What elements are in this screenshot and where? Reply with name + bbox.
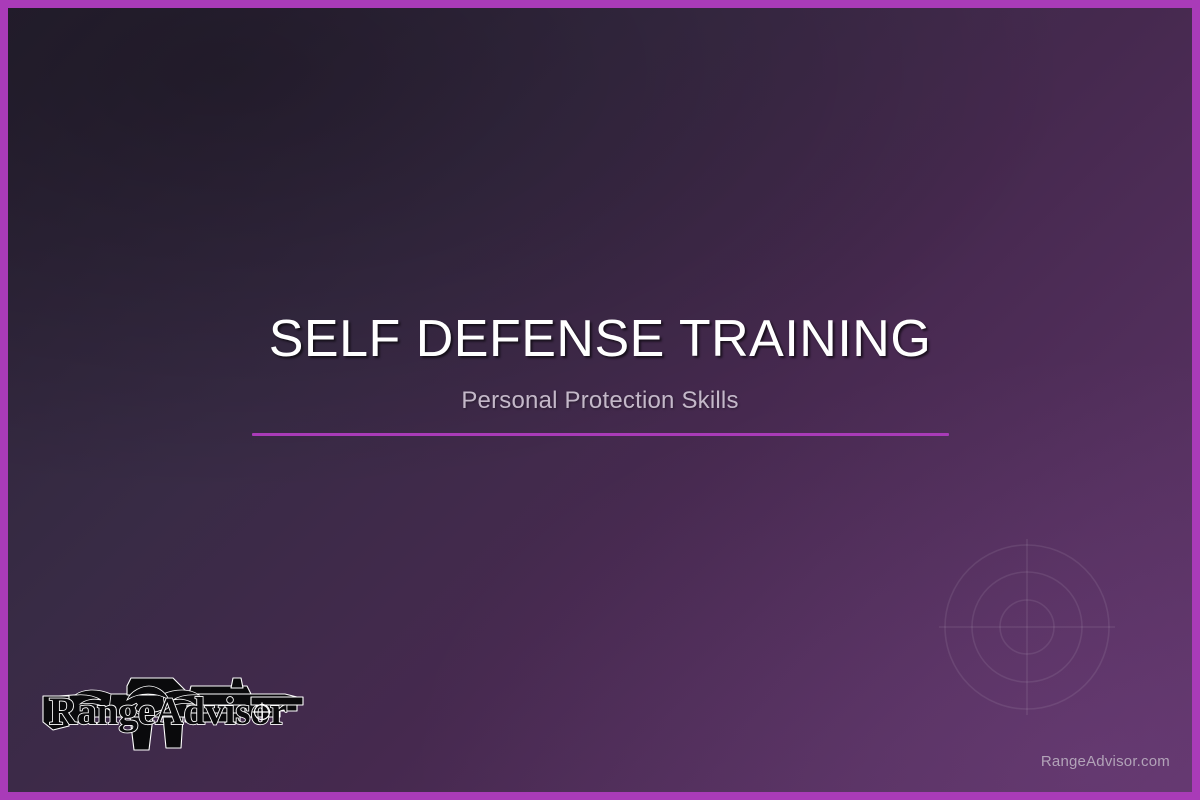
page-title: SELF DEFENSE TRAINING	[8, 312, 1192, 367]
logo-wordmark: RangeAdvisor	[49, 690, 287, 733]
brand-logo: RangeAdvisor	[35, 664, 313, 764]
title-group: SELF DEFENSE TRAINING Personal Protectio…	[8, 312, 1192, 435]
page-subtitle: Personal Protection Skills	[8, 387, 1192, 415]
title-divider	[252, 433, 949, 436]
footer-url: RangeAdvisor.com	[1041, 753, 1170, 770]
title-slide: SELF DEFENSE TRAINING Personal Protectio…	[0, 0, 1200, 800]
